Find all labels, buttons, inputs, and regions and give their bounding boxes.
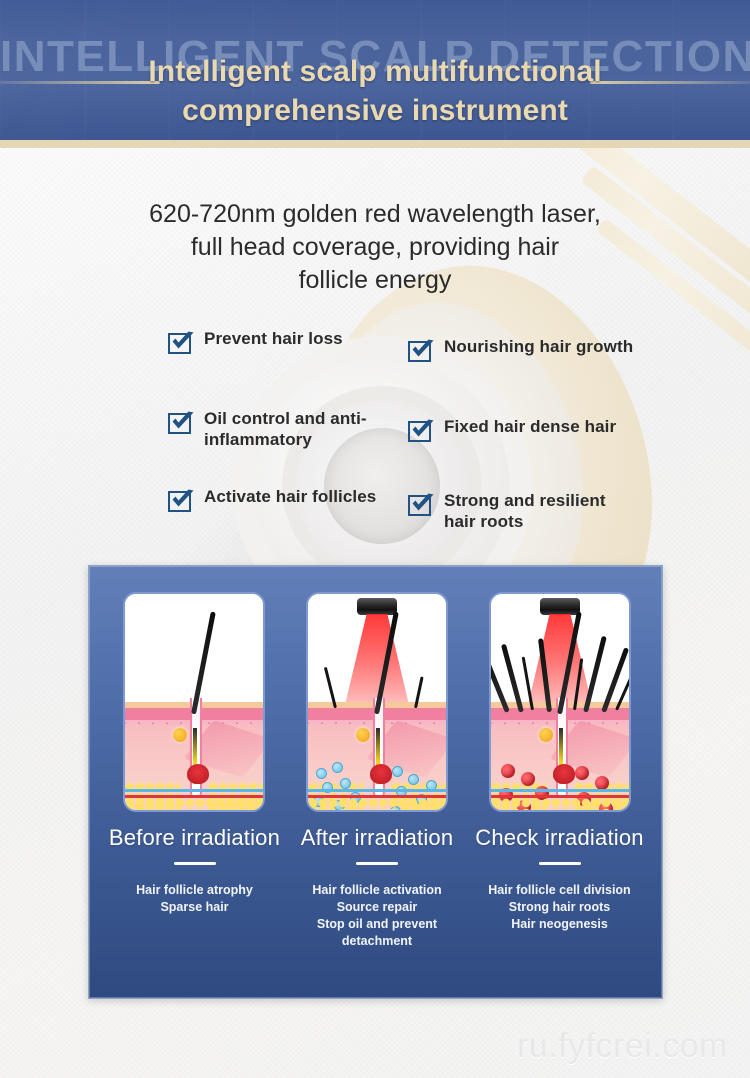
feature-item-activate-follicles: Activate hair follicles [168, 486, 376, 512]
feature-item-oil-control: Oil control and anti-inflammatory [168, 408, 383, 450]
irradiation-comparison-panel: Before irradiation Hair follicle atrophy… [88, 565, 663, 999]
feature-item-strong-resilient-roots: Strong and resilient hair roots [408, 490, 638, 532]
product-banner-page: INTELLIGENT SCALP DETECTION Intelligent … [0, 0, 750, 1078]
feature-label: Nourishing hair growth [444, 336, 633, 357]
stage-diagram-before [123, 592, 265, 812]
stage-description: Hair follicle cell division Strong hair … [472, 882, 647, 933]
subtitle-line-2: full head coverage, providing hair [75, 231, 675, 264]
feature-item-prevent-hair-loss: Prevent hair loss [168, 328, 343, 354]
particle [332, 762, 343, 773]
subtitle-line-1: 620-720nm golden red wavelength laser, [75, 198, 675, 231]
checkmark-icon [408, 338, 435, 362]
stage-cards: Before irradiation Hair follicle atrophy… [89, 566, 664, 1000]
checkmark-icon [408, 418, 435, 442]
particle [316, 768, 327, 779]
blood-vessel-vein [308, 789, 446, 792]
feature-label: Activate hair follicles [204, 486, 376, 507]
stage-diagram-after [306, 592, 448, 812]
feature-list: Prevent hair loss Oil control and anti-i… [168, 328, 688, 558]
feature-label: Fixed hair dense hair [444, 416, 616, 437]
page-title-line-1: Intelligent scalp multifunctional [0, 52, 750, 91]
feature-label: Strong and resilient hair roots [444, 490, 638, 532]
stage-caption-check: Check irradiation Hair follicle cell div… [472, 824, 647, 933]
feature-label: Oil control and anti-inflammatory [204, 408, 383, 450]
particle [521, 772, 535, 786]
hair-bulb [187, 764, 209, 784]
page-header: INTELLIGENT SCALP DETECTION Intelligent … [0, 0, 750, 140]
page-title: Intelligent scalp multifunctional compre… [0, 52, 750, 130]
blood-vessel-vein [491, 789, 629, 792]
fat-cells-bottom [491, 798, 629, 810]
checkmark-icon [168, 410, 195, 434]
skin-air-region [125, 594, 263, 702]
blood-vessel-vein [125, 789, 263, 792]
laser-emitter-icon [357, 598, 397, 615]
stage-divider [539, 862, 581, 865]
stage-caption-before: Before irradiation Hair follicle atrophy… [107, 824, 282, 916]
sebaceous-gland-icon [171, 726, 189, 744]
particle [575, 766, 589, 780]
header-accent-band [0, 140, 750, 148]
particle [501, 764, 515, 778]
stage-title: Before irradiation [107, 824, 282, 851]
sebaceous-gland-icon [537, 726, 555, 744]
fat-cells-bottom [125, 798, 263, 810]
stage-divider [356, 862, 398, 865]
subtitle-block: 620-720nm golden red wavelength laser, f… [75, 198, 675, 297]
sebaceous-gland-icon [354, 726, 372, 744]
stage-title: Check irradiation [472, 824, 647, 851]
checkmark-icon [168, 330, 195, 354]
stage-diagram-check [489, 592, 631, 812]
checkmark-icon [408, 492, 435, 516]
stage-divider [174, 862, 216, 865]
feature-item-nourishing-growth: Nourishing hair growth [408, 336, 633, 362]
laser-emitter-icon [540, 598, 580, 615]
feature-label: Prevent hair loss [204, 328, 343, 349]
checkmark-icon [168, 488, 195, 512]
particle [408, 774, 419, 785]
particle [595, 776, 609, 790]
stage-description: Hair follicle atrophy Sparse hair [107, 882, 282, 916]
subtitle-line-3: follicle energy [75, 264, 675, 297]
page-title-line-2: comprehensive instrument [0, 91, 750, 130]
stage-title: After irradiation [287, 824, 467, 851]
fat-cells-bottom [308, 798, 446, 810]
stage-description: Hair follicle activation Source repair S… [287, 882, 467, 950]
site-watermark: ru.fyfcrei.com [0, 1027, 750, 1066]
particle [340, 778, 351, 789]
particle [392, 766, 403, 777]
feature-item-fixed-dense-hair: Fixed hair dense hair [408, 416, 616, 442]
stage-caption-after: After irradiation Hair follicle activati… [287, 824, 467, 950]
